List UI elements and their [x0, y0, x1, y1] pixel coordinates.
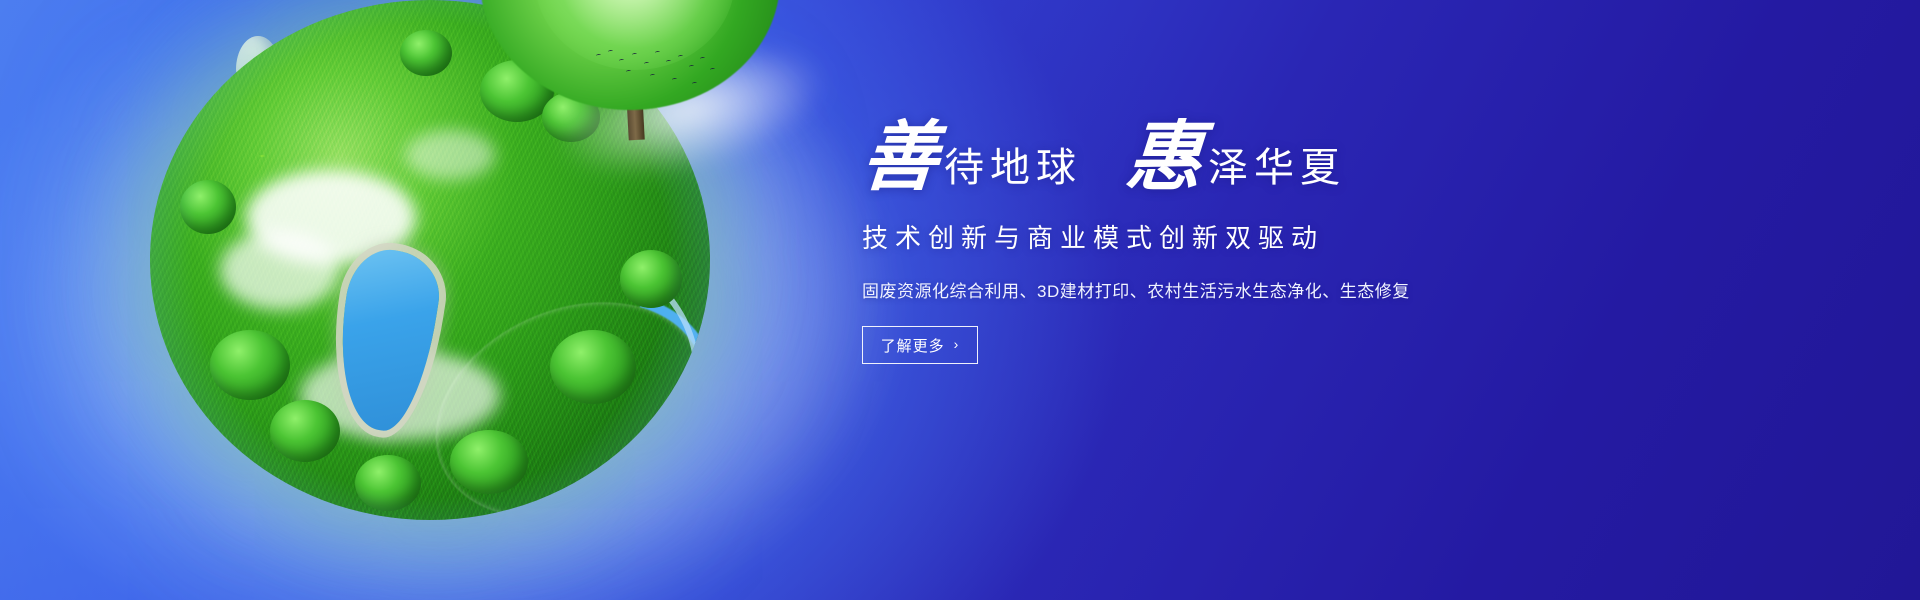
tree-cluster — [450, 430, 528, 494]
headline-lead-char: 善 — [859, 120, 940, 196]
tree-cluster — [620, 250, 682, 308]
headline-rest-chars: 泽华夏 — [1208, 148, 1346, 196]
hero-description: 固废资源化综合利用、3D建材打印、农村生活污水生态净化、生态修复 — [862, 277, 1582, 302]
tree-cluster — [400, 30, 452, 76]
headline-phrase-1: 善 待地球 — [862, 120, 1082, 196]
learn-more-label: 了解更多 — [881, 335, 945, 356]
river — [388, 248, 710, 520]
learn-more-button[interactable]: 了解更多 › — [862, 326, 978, 364]
planet-cloud — [246, 170, 416, 265]
tree-cluster — [550, 330, 636, 404]
lake — [326, 244, 445, 436]
hero-content: 善 待地球 惠 泽华夏 技术创新与商业模式创新双驱动 固废资源化综合利用、3D建… — [862, 120, 1582, 364]
headline-phrase-2: 惠 泽华夏 — [1126, 120, 1346, 196]
headline-rest-chars: 待地球 — [944, 148, 1082, 196]
planet-cloud — [405, 130, 495, 180]
tree-cluster — [355, 455, 421, 511]
planet-cloud — [300, 350, 500, 440]
tree-cluster — [210, 330, 290, 400]
tree-cluster — [270, 400, 340, 462]
chevron-right-icon: › — [954, 337, 960, 351]
planet-cloud — [220, 230, 340, 310]
headline-lead-char: 惠 — [1123, 120, 1204, 196]
bird-flock-icon — [592, 48, 722, 92]
tree-cluster — [180, 180, 236, 234]
hero-banner: 善 待地球 惠 泽华夏 技术创新与商业模式创新双驱动 固废资源化综合利用、3D建… — [0, 0, 1920, 600]
hero-subtitle: 技术创新与商业模式创新双驱动 — [862, 218, 1582, 255]
hero-headline: 善 待地球 惠 泽华夏 — [862, 120, 1582, 196]
